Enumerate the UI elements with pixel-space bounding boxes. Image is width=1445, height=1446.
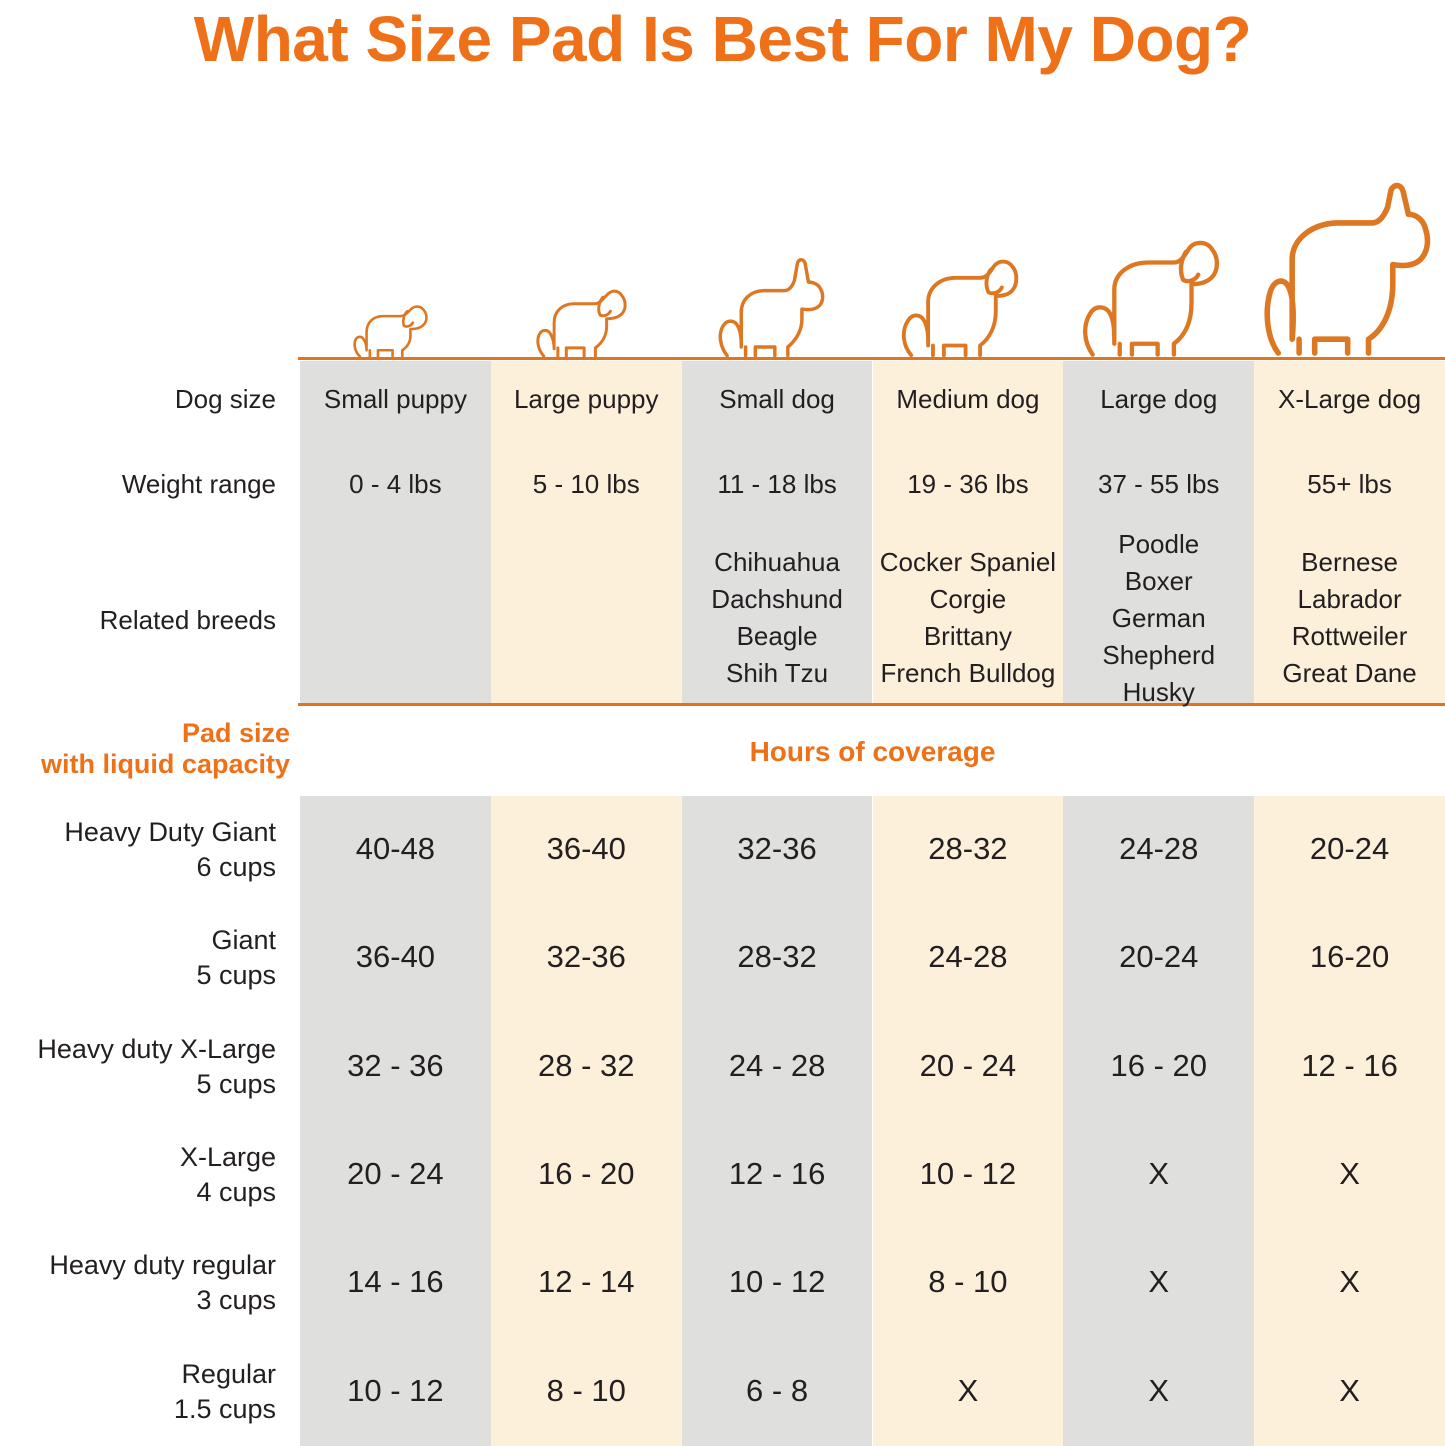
pad-value-r4-c4: 10 - 12 (873, 1155, 1064, 1193)
page-title: What Size Pad Is Best For My Dog? (0, 2, 1445, 76)
dog-silhouette-row (0, 150, 1445, 360)
pad-name: X-Large (0, 1140, 276, 1175)
cell-related-breeds-5: PoodleBoxerGermanShepherdHusky (1063, 526, 1254, 711)
pad-value-r5-c5: X (1063, 1263, 1254, 1301)
cell-weight-range-3: 11 - 18 lbs (682, 468, 873, 500)
medium-dog-icon (888, 244, 1048, 360)
pad-value-r2-c6: 16-20 (1254, 938, 1445, 976)
cell-weight-range-6: 55+ lbs (1254, 468, 1445, 500)
pad-value-r1-c5: 24-28 (1063, 830, 1254, 868)
cell-dog-size-1: Small puppy (300, 383, 491, 415)
breed-name: French Bulldog (873, 655, 1064, 692)
small-puppy-dog-icon (339, 282, 451, 360)
pad-size-line2: with liquid capacity (41, 749, 290, 779)
breed-name: Beagle (682, 618, 873, 655)
x-large-dog-icon (1254, 178, 1445, 360)
row-label-weight-range: Weight range (0, 468, 276, 500)
breed-name: Husky (1063, 674, 1254, 711)
cell-related-breeds-6: BerneseLabradorRottweilerGreat Dane (1254, 544, 1445, 692)
breed-name: Cocker Spaniel (873, 544, 1064, 581)
cell-dog-size-5: Large dog (1063, 383, 1254, 415)
pad-value-r5-c4: 8 - 10 (873, 1263, 1064, 1301)
pad-row-label-2: Giant5 cups (0, 923, 276, 993)
cell-dog-size-3: Small dog (682, 383, 873, 415)
cell-weight-range-5: 37 - 55 lbs (1063, 468, 1254, 500)
pad-value-r5-c2: 12 - 14 (491, 1263, 682, 1301)
pad-name: Heavy Duty Giant (0, 815, 276, 850)
dog-illustration-cell-1 (300, 150, 491, 360)
pad-row-label-1: Heavy Duty Giant6 cups (0, 815, 276, 885)
pad-capacity: 1.5 cups (0, 1392, 276, 1427)
pad-name: Regular (0, 1357, 276, 1392)
breed-name: Brittany (873, 618, 1064, 655)
pad-row-label-5: Heavy duty regular3 cups (0, 1248, 276, 1318)
pad-capacity: 4 cups (0, 1175, 276, 1210)
small-dog-icon (704, 256, 850, 360)
pad-size-line1: Pad size (182, 718, 290, 748)
breed-name: Labrador (1254, 581, 1445, 618)
cell-dog-size-4: Medium dog (873, 383, 1064, 415)
column-band-4 (873, 796, 1064, 1446)
pad-value-r6-c3: 6 - 8 (682, 1372, 873, 1410)
dog-illustration-cell-2 (491, 150, 682, 360)
pad-value-r6-c6: X (1254, 1372, 1445, 1410)
pad-capacity: 3 cups (0, 1283, 276, 1318)
pad-row-label-3: Heavy duty X-Large5 cups (0, 1032, 276, 1102)
pad-value-r1-c2: 36-40 (491, 830, 682, 868)
pad-value-r5-c1: 14 - 16 (300, 1263, 491, 1301)
divider-top (298, 357, 1445, 360)
pad-name: Heavy duty regular (0, 1248, 276, 1283)
pad-value-r4-c5: X (1063, 1155, 1254, 1193)
cell-dog-size-6: X-Large dog (1254, 383, 1445, 415)
pad-row-label-6: Regular1.5 cups (0, 1357, 276, 1427)
column-band-2 (491, 796, 682, 1446)
dog-illustration-cell-4 (873, 150, 1064, 360)
infographic-page: What Size Pad Is Best For My Dog? Dog si… (0, 0, 1445, 1446)
pad-value-r2-c5: 20-24 (1063, 938, 1254, 976)
dog-illustration-cell-3 (682, 150, 873, 360)
pad-capacity: 6 cups (0, 850, 276, 885)
pad-value-r6-c5: X (1063, 1372, 1254, 1410)
breed-name: German (1063, 600, 1254, 637)
pad-capacity: 5 cups (0, 1067, 276, 1102)
pad-value-r2-c1: 36-40 (300, 938, 491, 976)
breed-name: Dachshund (682, 581, 873, 618)
pad-capacity: 5 cups (0, 958, 276, 993)
cell-weight-range-1: 0 - 4 lbs (300, 468, 491, 500)
pad-value-r1-c4: 28-32 (873, 830, 1064, 868)
breed-name: Shih Tzu (682, 655, 873, 692)
pad-value-r5-c6: X (1254, 1263, 1445, 1301)
cell-weight-range-2: 5 - 10 lbs (491, 468, 682, 500)
pad-value-r1-c1: 40-48 (300, 830, 491, 868)
cell-weight-range-4: 19 - 36 lbs (873, 468, 1064, 500)
breed-name: Shepherd (1063, 637, 1254, 674)
column-band-3 (682, 796, 873, 1446)
pad-value-r1-c3: 32-36 (682, 830, 873, 868)
pad-value-r6-c4: X (873, 1372, 1064, 1410)
pad-size-header: Pad size with liquid capacity (0, 718, 290, 780)
pad-value-r4-c6: X (1254, 1155, 1445, 1193)
pad-value-r2-c4: 24-28 (873, 938, 1064, 976)
row-label-dog-size: Dog size (0, 383, 276, 415)
pad-value-r3-c2: 28 - 32 (491, 1047, 682, 1085)
pad-value-r3-c3: 24 - 28 (682, 1047, 873, 1085)
row-label-related-breeds: Related breeds (0, 604, 276, 636)
pad-value-r3-c1: 32 - 36 (300, 1047, 491, 1085)
cell-related-breeds-4: Cocker SpanielCorgieBrittanyFrench Bulld… (873, 544, 1064, 692)
pad-value-r2-c2: 32-36 (491, 938, 682, 976)
breed-name: Bernese (1254, 544, 1445, 581)
breed-name: Boxer (1063, 563, 1254, 600)
lower-column-bands (300, 796, 1445, 1446)
breed-name: Poodle (1063, 526, 1254, 563)
pad-value-r6-c1: 10 - 12 (300, 1372, 491, 1410)
pad-value-r4-c2: 16 - 20 (491, 1155, 682, 1193)
dog-illustration-cell-5 (1063, 150, 1254, 360)
breed-name: Rottweiler (1254, 618, 1445, 655)
hours-of-coverage-header: Hours of coverage (300, 736, 1445, 768)
pad-value-r6-c2: 8 - 10 (491, 1372, 682, 1410)
column-band-5 (1063, 796, 1254, 1446)
column-band-1 (300, 796, 491, 1446)
pad-value-r3-c6: 12 - 16 (1254, 1047, 1445, 1085)
pad-value-r3-c5: 16 - 20 (1063, 1047, 1254, 1085)
dog-illustration-cell-6 (1254, 150, 1445, 360)
pad-name: Giant (0, 923, 276, 958)
breed-name: Chihuahua (682, 544, 873, 581)
pad-value-r4-c3: 12 - 16 (682, 1155, 873, 1193)
breed-name: Great Dane (1254, 655, 1445, 692)
cell-dog-size-2: Large puppy (491, 383, 682, 415)
pad-value-r3-c4: 20 - 24 (873, 1047, 1064, 1085)
cell-related-breeds-3: ChihuahuaDachshundBeagleShih Tzu (682, 544, 873, 692)
pad-name: Heavy duty X-Large (0, 1032, 276, 1067)
pad-row-label-4: X-Large4 cups (0, 1140, 276, 1210)
large-puppy-dog-icon (522, 270, 650, 360)
divider-mid (298, 703, 1445, 706)
pad-value-r2-c3: 28-32 (682, 938, 873, 976)
large-dog-icon (1071, 230, 1247, 360)
column-band-6 (1254, 796, 1445, 1446)
pad-value-r1-c6: 20-24 (1254, 830, 1445, 868)
breed-name: Corgie (873, 581, 1064, 618)
pad-value-r4-c1: 20 - 24 (300, 1155, 491, 1193)
pad-value-r5-c3: 10 - 12 (682, 1263, 873, 1301)
